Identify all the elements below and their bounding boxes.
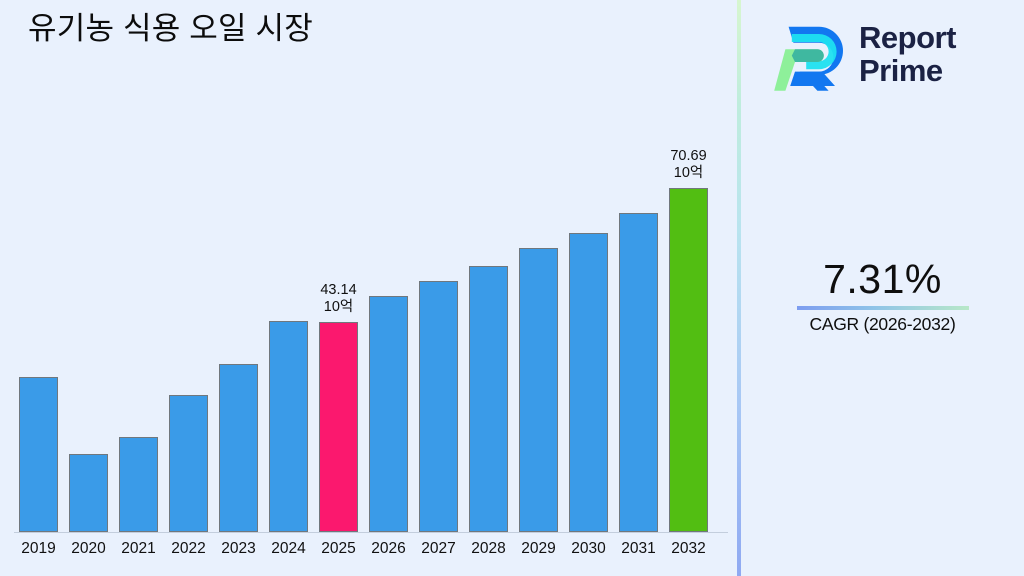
x-tick-2032: 2032 xyxy=(659,540,719,558)
brand-logo: Report Prime xyxy=(771,8,1011,100)
bar-value-amount: 70.69 xyxy=(644,148,734,165)
bar-2027 xyxy=(419,281,458,532)
brand-wordmark: Report Prime xyxy=(859,21,956,87)
brand-name-line1: Report xyxy=(859,20,956,55)
brand-panel: Report Prime 7.31% CAGR (2026-2032) xyxy=(741,0,1024,576)
bar-2028 xyxy=(469,266,508,532)
cagr-divider-rule xyxy=(797,306,969,310)
bar-value-unit: 10억 xyxy=(644,165,734,182)
bar-2030 xyxy=(569,233,608,532)
cagr-value: 7.31% xyxy=(741,255,1024,303)
brand-name-line2: Prime xyxy=(859,53,943,88)
bar-2032 xyxy=(669,188,708,532)
cagr-caption: CAGR (2026-2032) xyxy=(741,313,1024,335)
bar-2031 xyxy=(619,213,658,532)
bar-2024 xyxy=(269,321,308,532)
bar-2029 xyxy=(519,248,558,532)
report-prime-logo-icon xyxy=(771,14,851,94)
bar-value-label-2032: 70.6910억 xyxy=(644,148,734,181)
bar-2022 xyxy=(169,395,208,532)
bar-2023 xyxy=(219,364,258,532)
x-axis-line xyxy=(14,532,728,533)
bar-2026 xyxy=(369,296,408,532)
cagr-block: 7.31% CAGR (2026-2032) xyxy=(741,255,1024,335)
bar-2021 xyxy=(119,437,158,532)
bar-2025 xyxy=(319,322,358,532)
bar-chart-plot-area: 201920202021202220232024202543.1410억2026… xyxy=(0,0,738,576)
bar-2020 xyxy=(69,454,108,532)
bar-2019 xyxy=(19,377,58,532)
screenshot-root: 유기농 식용 오일 시장 201920202021202220232024202… xyxy=(0,0,1024,576)
chart-panel: 유기농 식용 오일 시장 201920202021202220232024202… xyxy=(0,0,738,576)
